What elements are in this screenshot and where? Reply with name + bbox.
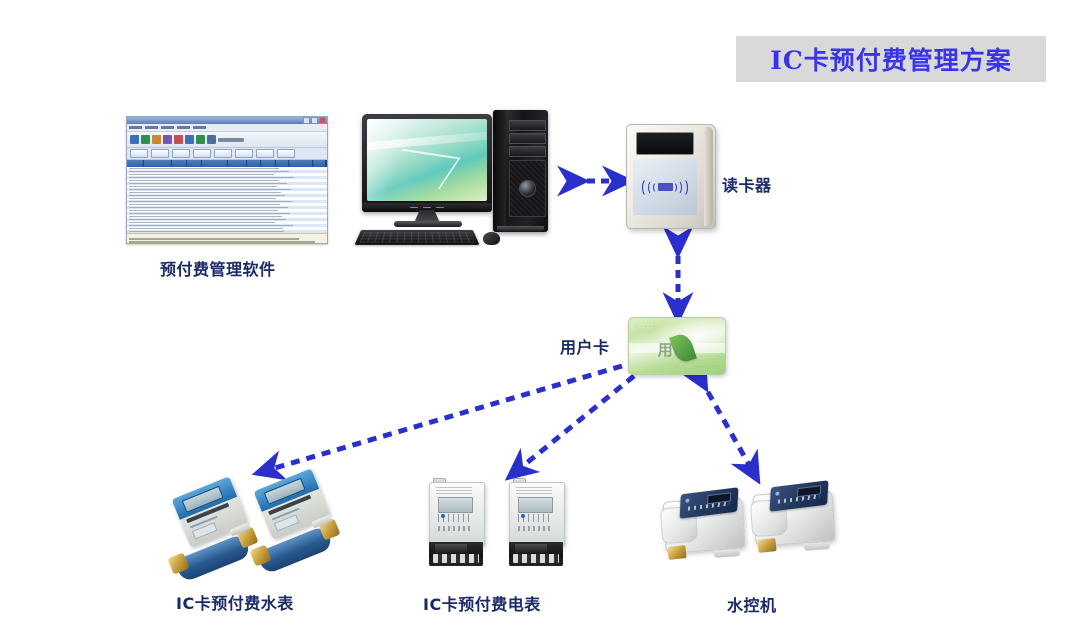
filter-button[interactable]: [151, 149, 169, 158]
node-water-controller[interactable]: [658, 487, 748, 559]
node-electric-meter[interactable]: [425, 478, 487, 574]
card-top-microtext: · · · · ·: [636, 324, 656, 329]
meter-pilot-led: [521, 514, 525, 518]
label-prepaid-software: 预付费管理软件: [160, 256, 276, 280]
controller-led: [775, 491, 779, 496]
computer-tower[interactable]: [493, 110, 548, 232]
toolbar-icon[interactable]: [152, 135, 161, 144]
column-header[interactable]: [144, 160, 172, 167]
keyboard-keys: [360, 232, 474, 242]
label-card-reader: 读卡器: [722, 172, 772, 196]
meter-display: [518, 497, 553, 513]
leaf-icon: [669, 331, 697, 364]
column-header[interactable]: [326, 160, 327, 167]
column-header[interactable]: [127, 160, 144, 167]
connection-card-watermeter: [268, 366, 622, 470]
column-header[interactable]: [202, 160, 228, 167]
software-titlebar: [127, 117, 327, 124]
meter-label-text: [518, 526, 551, 531]
node-water-meter[interactable]: [252, 470, 338, 566]
menu-item[interactable]: [145, 126, 158, 129]
rfid-wave-icon: [639, 177, 691, 197]
node-card-reader[interactable]: [626, 118, 722, 230]
power-button[interactable]: [519, 180, 536, 197]
toolbar-icon[interactable]: [207, 135, 216, 144]
software-menubar[interactable]: [127, 124, 327, 132]
node-user-card[interactable]: · · · · · 用 · · · · · · ·: [628, 317, 726, 375]
label-electric-meter: IC卡预付费电表: [423, 591, 541, 615]
tower-drive-bay: [509, 120, 546, 131]
meter-top-text: [436, 487, 472, 494]
column-header[interactable]: [261, 160, 276, 167]
tower-drive-bay: [509, 146, 546, 157]
window-close-button[interactable]: [319, 117, 326, 124]
toolbar-icon[interactable]: [141, 135, 150, 144]
terminal-slots: [433, 554, 479, 563]
tower-side-panel: [493, 110, 506, 232]
node-desktop-computer[interactable]: [352, 108, 592, 253]
toolbar-icon[interactable]: [163, 135, 172, 144]
column-header[interactable]: [172, 160, 187, 167]
meter-label-text: [438, 526, 471, 531]
menu-item[interactable]: [177, 126, 190, 129]
node-water-meter[interactable]: [170, 478, 256, 574]
connection-card-elecmeter: [518, 376, 634, 470]
terminal-slots: [513, 554, 559, 563]
column-header[interactable]: [313, 160, 326, 167]
label-user-card: 用户卡: [560, 334, 610, 358]
toolbar-text: [218, 138, 244, 142]
node-water-controller[interactable]: [748, 480, 838, 552]
filter-button[interactable]: [193, 149, 211, 158]
window-maximize-button[interactable]: [311, 117, 318, 124]
keyboard[interactable]: [355, 230, 480, 245]
software-table-header[interactable]: [127, 160, 327, 167]
filter-button[interactable]: [277, 149, 295, 158]
filter-button[interactable]: [235, 149, 253, 158]
column-header[interactable]: [228, 160, 247, 167]
toolbar-icon[interactable]: [130, 135, 139, 144]
controller-foot: [714, 549, 740, 558]
controller-brass-fitting: [667, 545, 686, 560]
node-prepaid-software-window[interactable]: [126, 116, 328, 244]
monitor-stand-base: [394, 221, 462, 227]
meter-display: [438, 497, 473, 513]
software-filter-buttons[interactable]: [127, 148, 327, 160]
column-header[interactable]: [247, 160, 262, 167]
software-toolbar[interactable]: [127, 132, 327, 148]
terminal-cover: [435, 544, 467, 553]
mouse[interactable]: [483, 232, 500, 245]
tower-base: [497, 226, 544, 232]
table-row[interactable]: [127, 230, 327, 233]
software-table-grid[interactable]: [127, 167, 327, 233]
menu-item[interactable]: [129, 126, 142, 129]
connection-card-waterctrl: [700, 378, 752, 470]
diagram-canvas: IC卡预付费管理方案: [0, 0, 1066, 640]
column-header[interactable]: [187, 160, 202, 167]
software-statusbar: [127, 233, 327, 244]
card-bottom-microtext: · · · · · · ·: [694, 364, 718, 369]
menu-item[interactable]: [161, 126, 174, 129]
filter-button[interactable]: [172, 149, 190, 158]
monitor-screen: [367, 119, 487, 201]
meter-top-text: [516, 487, 552, 494]
card-reader-body: [626, 124, 716, 229]
window-minimize-button[interactable]: [303, 117, 310, 124]
toolbar-icon[interactable]: [196, 135, 205, 144]
column-header[interactable]: [276, 160, 289, 167]
column-header[interactable]: [289, 160, 314, 167]
node-electric-meter[interactable]: [505, 478, 567, 574]
tower-drive-bay: [509, 133, 546, 144]
label-water-controller: 水控机: [727, 592, 777, 616]
filter-button[interactable]: [130, 149, 148, 158]
card-reader-display: [636, 132, 694, 155]
terminal-cover: [515, 544, 547, 553]
toolbar-icon[interactable]: [174, 135, 183, 144]
filter-button[interactable]: [214, 149, 232, 158]
filter-button[interactable]: [256, 149, 274, 158]
card-reader-touch-pad[interactable]: [633, 159, 697, 215]
monitor: [362, 114, 492, 212]
card-reader-side-edge: [704, 127, 713, 226]
toolbar-icon[interactable]: [185, 135, 194, 144]
controller-foot: [804, 542, 830, 551]
controller-brass-fitting: [757, 538, 776, 553]
menu-item[interactable]: [193, 126, 206, 129]
controller-led: [685, 498, 689, 503]
meter-pilot-led: [441, 514, 445, 518]
label-water-meter: IC卡预付费水表: [176, 590, 294, 614]
